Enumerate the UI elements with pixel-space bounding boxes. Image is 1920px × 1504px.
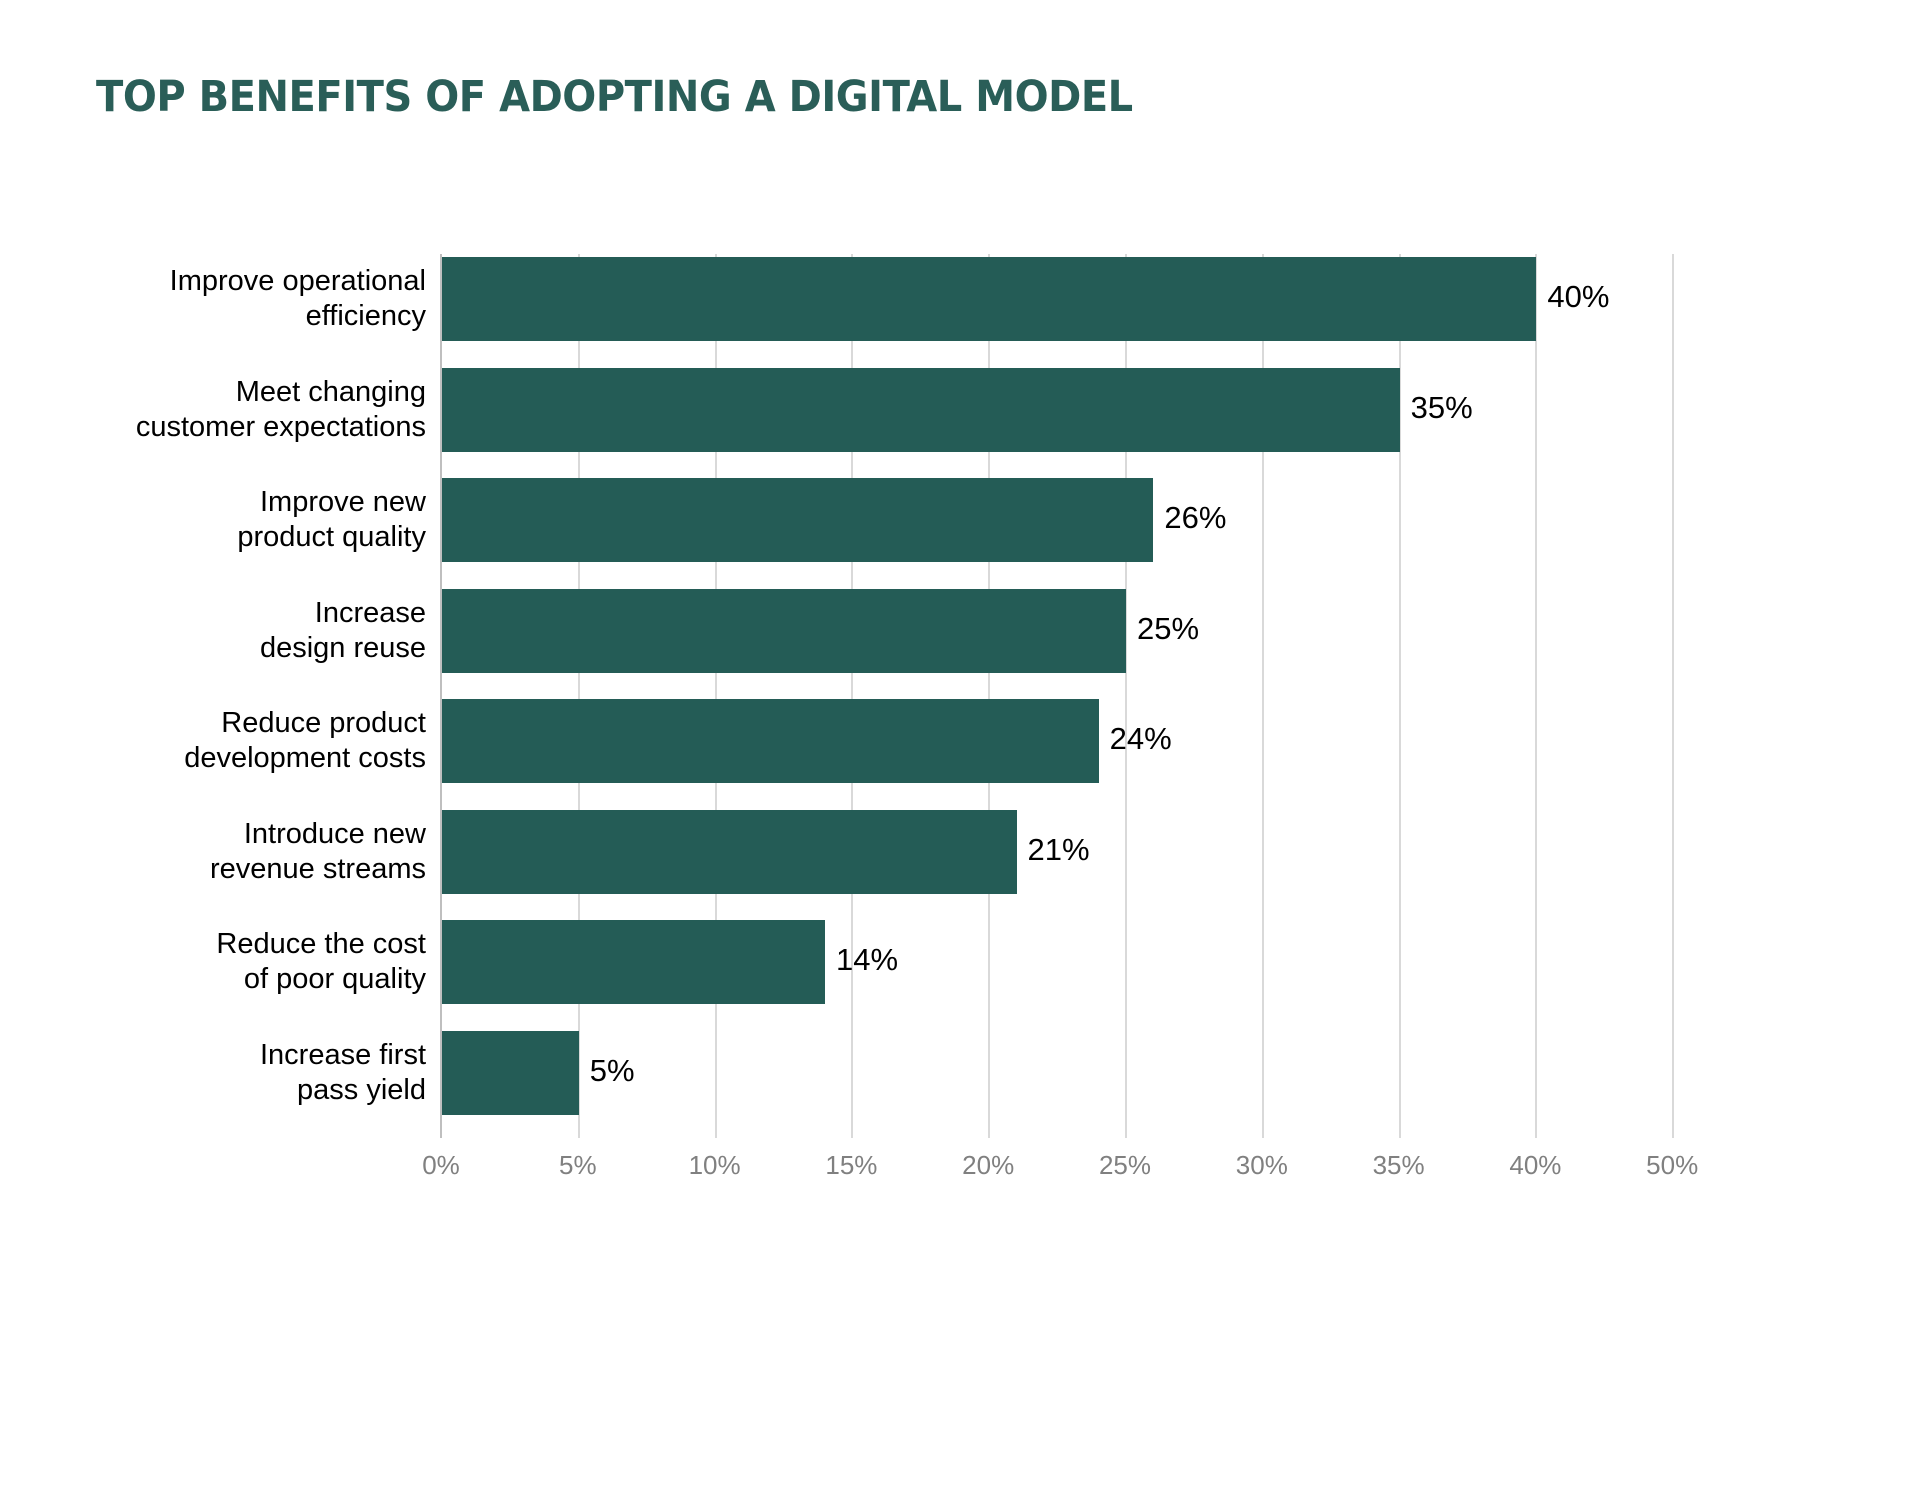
bar-value-label: 25%: [1137, 611, 1199, 647]
category-label-line: Increase: [96, 596, 426, 631]
gridline: [1672, 254, 1674, 1138]
plot-area: 40%35%26%25%24%21%14%5% Improve operatio…: [0, 0, 1920, 1504]
category-label-line: Introduce new: [96, 817, 426, 852]
bar-value-label: 14%: [836, 942, 898, 978]
category-label: Improve newproduct quality: [96, 485, 426, 555]
x-tick-label: 30%: [1236, 1150, 1288, 1181]
category-label-line: Increase first: [96, 1038, 426, 1073]
bar[interactable]: [442, 810, 1017, 894]
bar[interactable]: [442, 920, 825, 1004]
category-label-line: Improve operational: [96, 264, 426, 299]
category-label-line: Improve new: [96, 485, 426, 520]
category-label-line: Reduce the cost: [96, 927, 426, 962]
bar-value-label: 24%: [1110, 721, 1172, 757]
category-label-line: development costs: [96, 741, 426, 776]
x-tick-label: 10%: [689, 1150, 741, 1181]
x-tick-label: 5%: [559, 1150, 597, 1181]
category-label: Reduce productdevelopment costs: [96, 706, 426, 776]
category-label-line: pass yield: [96, 1073, 426, 1108]
category-label-line: Reduce product: [96, 706, 426, 741]
x-tick-label: 35%: [1373, 1150, 1425, 1181]
bar[interactable]: [442, 478, 1153, 562]
category-label: Introduce newrevenue streams: [96, 817, 426, 887]
category-label: Increasedesign reuse: [96, 596, 426, 666]
category-label-line: product quality: [96, 520, 426, 555]
bar-value-label: 26%: [1164, 500, 1226, 536]
bar-value-label: 40%: [1547, 279, 1609, 315]
category-label-line: of poor quality: [96, 962, 426, 997]
bar[interactable]: [442, 257, 1536, 341]
bar[interactable]: [442, 368, 1400, 452]
category-label-line: revenue streams: [96, 852, 426, 887]
x-tick-label: 40%: [1509, 1150, 1561, 1181]
gridline: [1535, 254, 1537, 1138]
chart-container: TOP BENEFITS OF ADOPTING A DIGITAL MODEL…: [0, 0, 1920, 1504]
bar[interactable]: [442, 589, 1126, 673]
category-label: Reduce the costof poor quality: [96, 927, 426, 997]
bar-value-label: 35%: [1411, 390, 1473, 426]
bar[interactable]: [442, 699, 1099, 783]
category-label-line: Meet changing: [96, 375, 426, 410]
bar-value-label: 5%: [590, 1053, 635, 1089]
bar[interactable]: [442, 1031, 579, 1115]
category-label-line: customer expectations: [96, 410, 426, 445]
category-label: Improve operationalefficiency: [96, 264, 426, 334]
x-tick-label: 0%: [422, 1150, 460, 1181]
x-tick-label: 20%: [962, 1150, 1014, 1181]
category-label: Increase firstpass yield: [96, 1038, 426, 1108]
category-label-line: design reuse: [96, 631, 426, 666]
x-tick-label: 15%: [825, 1150, 877, 1181]
x-tick-label: 25%: [1099, 1150, 1151, 1181]
category-label-line: efficiency: [96, 299, 426, 334]
bar-value-label: 21%: [1028, 832, 1090, 868]
category-label: Meet changingcustomer expectations: [96, 375, 426, 445]
x-tick-label: 50%: [1646, 1150, 1698, 1181]
